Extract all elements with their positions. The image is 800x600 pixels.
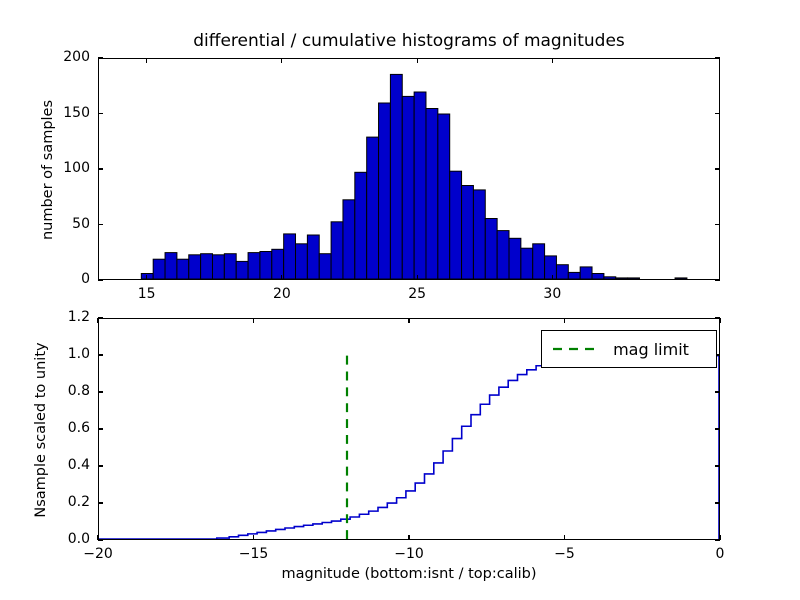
top-xtick-25: 25: [408, 286, 426, 302]
axis-tick: [146, 275, 147, 280]
histogram-bar: [628, 278, 640, 279]
axis-tick: [97, 318, 98, 323]
axis-tick: [417, 275, 418, 280]
bottom-xtick--15: −15: [239, 546, 269, 562]
axis-tick: [98, 391, 103, 392]
histogram-bar: [379, 103, 391, 279]
legend-label-mag-limit: mag limit: [596, 340, 716, 359]
figure-xlabel: magnitude (bottom:isnt / top:calib): [98, 566, 720, 582]
top-ytick-0: 0: [42, 271, 90, 287]
bottom-ytick-0.0: 0.0: [42, 531, 90, 547]
axis-tick: [719, 318, 720, 323]
axis-tick: [98, 224, 103, 225]
axis-tick: [552, 58, 553, 63]
cumulative-step-line: [99, 356, 719, 539]
axis-tick: [98, 317, 103, 318]
histogram-bar: [402, 96, 414, 279]
top-panel-axes: [98, 58, 720, 280]
histogram-bar: [414, 92, 426, 279]
histogram-bar: [592, 274, 604, 280]
axis-tick: [408, 535, 409, 540]
bottom-ytick-1.2: 1.2: [42, 309, 90, 325]
histogram-bar: [355, 172, 367, 279]
histogram-bar: [521, 248, 533, 279]
top-ytick-100: 100: [42, 160, 90, 176]
axis-tick: [98, 279, 103, 280]
axis-tick: [417, 58, 418, 63]
histogram-bar: [568, 272, 580, 279]
axis-tick: [715, 391, 720, 392]
axis-tick: [552, 275, 553, 280]
histogram-bar: [485, 219, 497, 280]
histogram-bar: [616, 278, 628, 279]
axis-tick: [564, 318, 565, 323]
top-xtick-20: 20: [273, 286, 291, 302]
axis-tick: [715, 465, 720, 466]
axis-tick: [253, 318, 254, 323]
top-ytick-200: 200: [42, 49, 90, 65]
bottom-ytick-0.2: 0.2: [42, 494, 90, 510]
histogram-bar: [367, 137, 379, 279]
histogram-bar: [533, 244, 545, 279]
axis-tick: [719, 535, 720, 540]
top-xtick-30: 30: [543, 286, 561, 302]
differential-histogram-plot: [99, 59, 719, 279]
histogram-bar: [260, 252, 272, 280]
axis-tick: [98, 57, 103, 58]
top-xtick-15: 15: [138, 286, 156, 302]
axis-tick: [98, 428, 103, 429]
axis-tick: [97, 535, 98, 540]
histogram-bar: [153, 259, 165, 279]
histogram-bar: [438, 114, 450, 279]
histogram-bar: [580, 267, 592, 279]
axis-tick: [281, 58, 282, 63]
axis-tick: [98, 539, 103, 540]
histogram-bar: [189, 255, 201, 279]
axis-tick: [98, 502, 103, 503]
histogram-bar: [509, 238, 521, 279]
histogram-bar: [604, 277, 616, 279]
histogram-bar: [462, 186, 474, 280]
top-ytick-150: 150: [42, 105, 90, 121]
figure: differential / cumulative histograms of …: [0, 0, 800, 600]
axis-tick: [564, 535, 565, 540]
histogram-bar: [177, 259, 189, 279]
histogram-bar: [307, 235, 319, 279]
axis-tick: [281, 275, 282, 280]
histogram-bar: [212, 255, 224, 279]
histogram-bar: [556, 265, 568, 279]
histogram-bar: [473, 190, 485, 279]
figure-title: differential / cumulative histograms of …: [98, 31, 720, 51]
axis-tick: [715, 57, 720, 58]
bottom-ytick-1.0: 1.0: [42, 346, 90, 362]
histogram-bar: [426, 109, 438, 280]
histogram-bar: [331, 222, 343, 279]
axis-tick: [715, 502, 720, 503]
axis-tick: [715, 428, 720, 429]
axis-tick: [715, 168, 720, 169]
histogram-bar: [165, 253, 177, 279]
histogram-bar: [248, 253, 260, 279]
histogram-bar: [319, 254, 331, 279]
histogram-bar: [284, 234, 296, 279]
bottom-ytick-0.4: 0.4: [42, 457, 90, 473]
axis-tick: [146, 58, 147, 63]
histogram-bar: [390, 74, 402, 279]
histogram-bar: [450, 171, 462, 279]
bottom-xtick--10: −10: [394, 546, 424, 562]
histogram-bar: [296, 244, 308, 279]
histogram-bar: [224, 254, 236, 279]
histogram-bar: [343, 200, 355, 279]
axis-tick: [98, 465, 103, 466]
bottom-xtick--20: −20: [83, 546, 113, 562]
mag-limit-line-icon: [552, 343, 596, 355]
axis-tick: [98, 168, 103, 169]
bottom-ytick-0.8: 0.8: [42, 383, 90, 399]
legend: mag limit: [541, 330, 717, 368]
axis-tick: [98, 354, 103, 355]
top-ytick-50: 50: [42, 216, 90, 232]
axis-tick: [715, 279, 720, 280]
axis-tick: [408, 318, 409, 323]
bottom-xtick-0: 0: [716, 546, 725, 562]
axis-tick: [98, 113, 103, 114]
axis-tick: [715, 224, 720, 225]
histogram-bar: [675, 278, 687, 279]
axis-tick: [715, 113, 720, 114]
axis-tick: [253, 535, 254, 540]
histogram-bar: [497, 231, 509, 279]
histogram-bar: [545, 256, 557, 279]
histogram-bar: [236, 261, 248, 279]
histogram-bar: [201, 254, 213, 279]
bottom-xtick--5: −5: [554, 546, 575, 562]
bottom-ytick-0.6: 0.6: [42, 420, 90, 436]
